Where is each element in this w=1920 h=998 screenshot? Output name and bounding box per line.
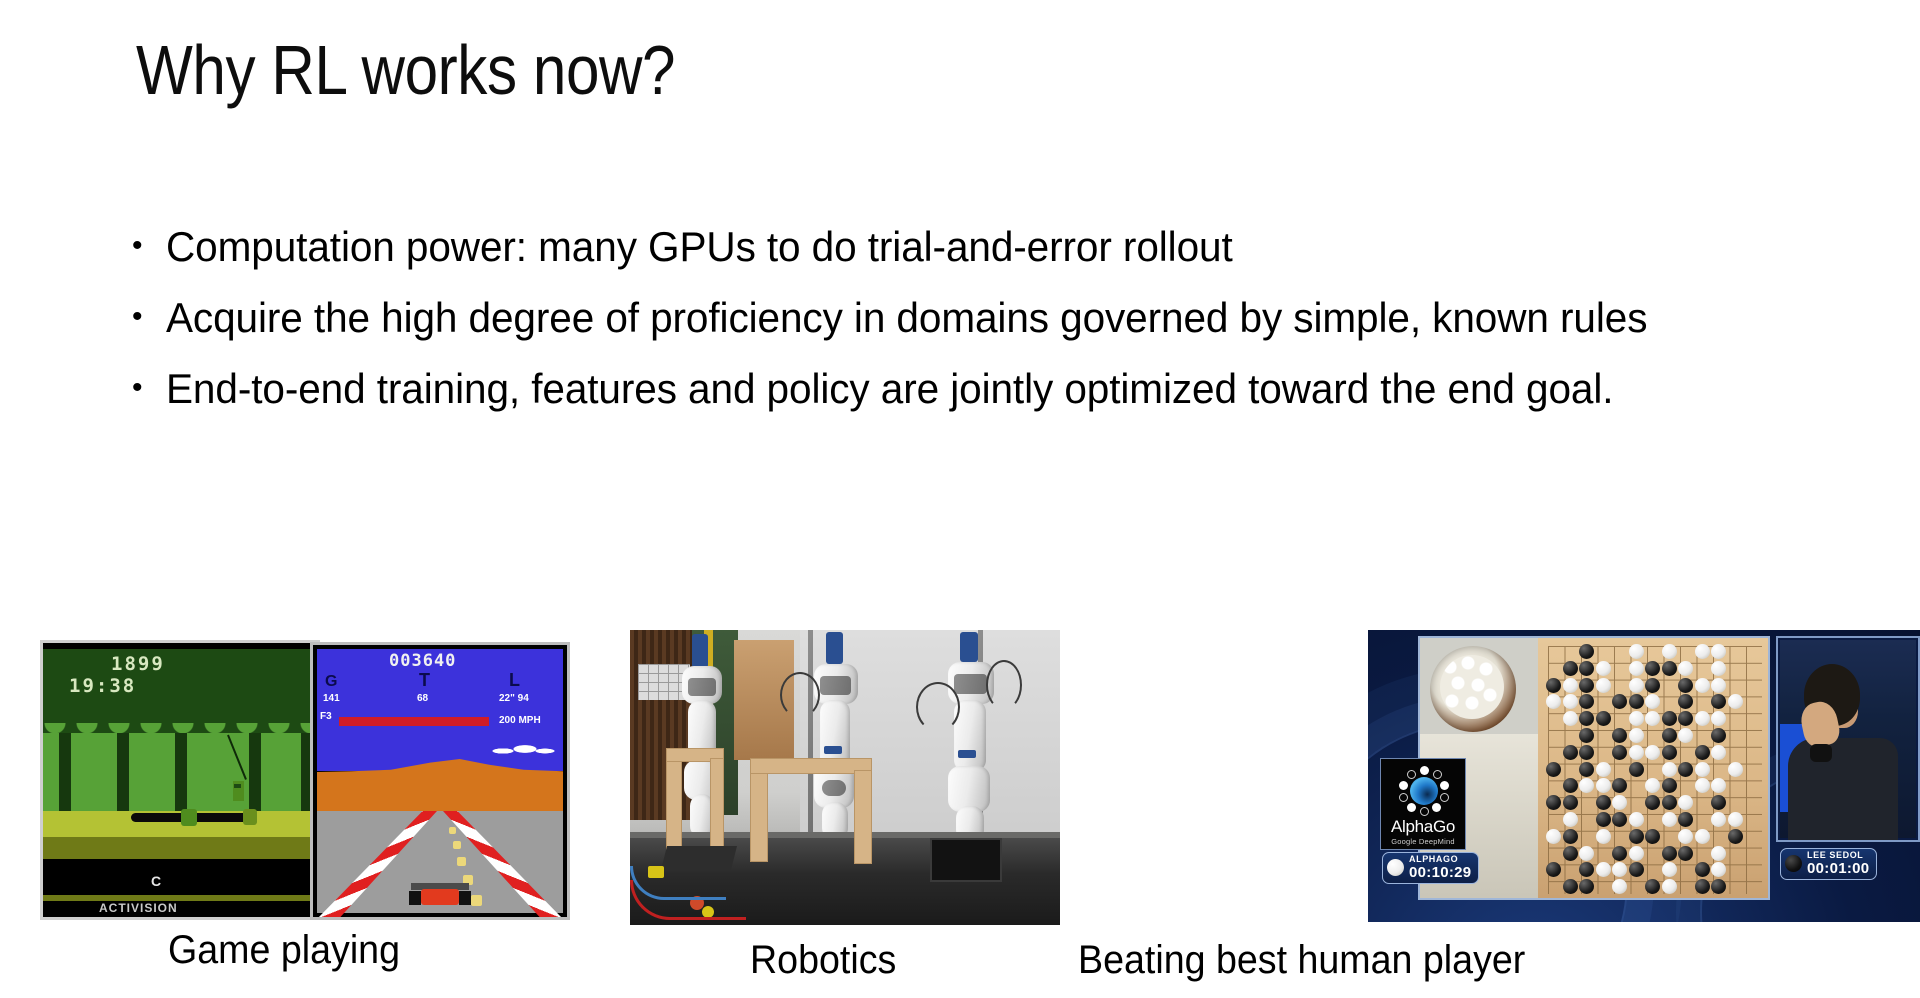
white-stone <box>1695 644 1710 659</box>
black-stone <box>1662 745 1677 760</box>
white-stone <box>1546 829 1561 844</box>
black-stone <box>1629 694 1644 709</box>
black-stone <box>1596 795 1611 810</box>
white-stone <box>1596 862 1611 877</box>
lee-sedol-clock: LEE SEDOL 00:01:00 <box>1780 848 1877 880</box>
robot-cable <box>780 672 820 718</box>
lee-sedol-player-name: LEE SEDOL <box>1807 851 1869 860</box>
robot-cable <box>986 660 1022 710</box>
black-stone-icon <box>1785 855 1802 872</box>
white-stone <box>1678 728 1693 743</box>
bullet-point-icon: • <box>128 364 166 412</box>
white-stone <box>1711 812 1726 827</box>
black-stone <box>1645 678 1660 693</box>
white-stone <box>1563 694 1578 709</box>
white-stone <box>1678 829 1693 844</box>
caption-robotics: Robotics <box>750 940 896 980</box>
monitor <box>930 838 1002 882</box>
black-stone <box>1563 795 1578 810</box>
racing-gear-label: G <box>325 673 337 691</box>
figure-row: 1899 19:38 C ACTIVISION 003640 G 141 F3 … <box>0 630 1920 998</box>
racing-progress-bar <box>339 717 489 726</box>
black-stone <box>1546 762 1561 777</box>
black-stone <box>1612 745 1627 760</box>
white-stone <box>1695 678 1710 693</box>
white-stone <box>1695 711 1710 726</box>
robotics-photo <box>630 630 1060 925</box>
white-stone <box>1662 812 1677 827</box>
pitfall-score: 1899 <box>111 653 165 675</box>
black-stone <box>1579 762 1594 777</box>
alphago-logo-ring <box>1399 766 1449 816</box>
white-stone <box>1596 678 1611 693</box>
black-stone <box>1612 812 1627 827</box>
white-stone-icon <box>1387 859 1404 876</box>
white-stone <box>1711 678 1726 693</box>
alphago-logo: AlphaGo Google DeepMind <box>1380 758 1466 850</box>
black-stone <box>1728 829 1743 844</box>
black-stone <box>1579 728 1594 743</box>
atari-pitfall-screenshot: 1899 19:38 C ACTIVISION <box>40 640 320 920</box>
white-stone <box>1695 829 1710 844</box>
black-stone <box>1629 862 1644 877</box>
white-stone <box>1662 644 1677 659</box>
white-stone <box>1563 711 1578 726</box>
white-stone <box>1695 762 1710 777</box>
list-item: • Computation power: many GPUs to do tri… <box>128 222 1868 273</box>
white-stone <box>1662 862 1677 877</box>
racing-clouds <box>489 737 559 755</box>
activision-logo: ACTIVISION <box>99 901 178 915</box>
racing-tach-label: T <box>419 670 430 691</box>
black-stone <box>1662 795 1677 810</box>
black-stone <box>1563 661 1578 676</box>
bullet-list: • Computation power: many GPUs to do tri… <box>128 222 1868 434</box>
white-stone <box>1629 661 1644 676</box>
black-stone <box>1563 846 1578 861</box>
bullet-text: Computation power: many GPUs to do trial… <box>166 222 1808 273</box>
bullet-text: End-to-end training, features and policy… <box>166 364 1808 415</box>
alphago-time-remaining: 00:10:29 <box>1409 865 1471 880</box>
player-watch <box>1810 744 1832 762</box>
pitfall-underground-stripe <box>43 895 317 901</box>
white-stone <box>1563 678 1578 693</box>
black-stone <box>1678 762 1693 777</box>
go-stone-bowl <box>1430 646 1516 732</box>
robot-cable <box>916 682 960 732</box>
list-item: • End-to-end training, features and poli… <box>128 364 1868 415</box>
white-stone <box>1596 661 1611 676</box>
pitfall-timer: 19:38 <box>69 675 136 697</box>
alphago-logo-subtitle: Google DeepMind <box>1381 837 1465 846</box>
black-stone <box>1563 745 1578 760</box>
racing-time-label: L <box>509 670 520 691</box>
white-stone <box>1662 879 1677 894</box>
atari-racing-screenshot: 003640 G 141 F3 T 68 L 22" 94 200 MPH <box>310 642 570 920</box>
racing-speed-readout: 200 MPH <box>499 715 541 726</box>
bullet-text: Acquire the high degree of proficiency i… <box>166 293 1808 344</box>
black-stone <box>1579 745 1594 760</box>
racing-gear-value: 141 <box>323 693 340 704</box>
black-stone <box>1563 829 1578 844</box>
bullet-point-icon: • <box>128 222 166 270</box>
black-stone <box>1711 728 1726 743</box>
black-stone <box>1629 829 1644 844</box>
black-stone <box>1579 644 1594 659</box>
wooden-fixture <box>750 770 768 862</box>
black-stone <box>1678 846 1693 861</box>
wooden-fixture <box>666 758 682 852</box>
list-item: • Acquire the high degree of proficiency… <box>128 293 1868 344</box>
white-stone <box>1728 762 1743 777</box>
black-stone <box>1662 711 1677 726</box>
white-stone <box>1711 745 1726 760</box>
white-stone <box>1728 812 1743 827</box>
white-stone <box>1678 661 1693 676</box>
white-stone <box>1596 762 1611 777</box>
black-stone <box>1563 879 1578 894</box>
wooden-fixture <box>854 770 872 864</box>
bullet-point-icon: • <box>128 293 166 341</box>
black-stone <box>1596 711 1611 726</box>
black-stone <box>1546 678 1561 693</box>
racing-score: 003640 <box>389 651 456 671</box>
go-board <box>1538 638 1770 900</box>
go-stones-in-bowl <box>1440 655 1504 719</box>
racing-time-value: 22" 94 <box>499 693 529 704</box>
black-stone <box>1579 661 1594 676</box>
wooden-fixture <box>710 758 724 850</box>
alphago-clock: ALPHAGO 00:10:29 <box>1382 852 1479 884</box>
black-stone <box>1695 745 1710 760</box>
black-stone <box>1662 846 1677 861</box>
white-stone <box>1563 812 1578 827</box>
black-stone <box>1596 812 1611 827</box>
white-stone <box>1629 644 1644 659</box>
white-stone <box>1629 745 1644 760</box>
black-stone <box>1662 661 1677 676</box>
white-stone <box>1662 762 1677 777</box>
black-stone <box>1579 678 1594 693</box>
black-stone <box>1678 678 1693 693</box>
black-stone <box>1695 879 1710 894</box>
caption-alphago: Beating best human player <box>1078 940 1525 980</box>
black-stone <box>1662 778 1677 793</box>
alphago-player-name: ALPHAGO <box>1409 855 1471 864</box>
player-camera-feed <box>1776 636 1920 842</box>
pitfall-log-obstacle <box>243 809 257 825</box>
white-stone <box>1711 846 1726 861</box>
alphago-broadcast-photo: ALPHAGO 00:10:29 LEE SEDOL 00:01:00 <box>1368 630 1920 922</box>
black-stone <box>1645 829 1660 844</box>
pitfall-ground-shadow <box>43 837 317 859</box>
black-stone <box>1612 846 1627 861</box>
alphago-logo-wordmark: AlphaGo <box>1381 817 1465 837</box>
white-stone <box>1711 644 1726 659</box>
white-stone <box>1711 661 1726 676</box>
white-stone <box>1645 745 1660 760</box>
white-stone <box>1579 846 1594 861</box>
alphago-logo-swirl-icon <box>1410 777 1438 805</box>
white-stone <box>1629 728 1644 743</box>
racing-player-car <box>409 883 471 909</box>
pitfall-lives-counter: C <box>151 873 161 889</box>
black-stone <box>1695 862 1710 877</box>
white-stone <box>1629 678 1644 693</box>
white-stone <box>1629 711 1644 726</box>
pitfall-underground <box>43 859 317 919</box>
white-stone <box>1596 778 1611 793</box>
racing-lap-label: F3 <box>320 711 332 722</box>
player-body <box>1788 738 1898 842</box>
racing-desert <box>317 785 563 811</box>
white-stone <box>1695 778 1710 793</box>
camera-image <box>1780 640 1916 838</box>
lee-sedol-time-remaining: 00:01:00 <box>1807 861 1869 876</box>
black-stone <box>1629 762 1644 777</box>
caption-game-playing: Game playing <box>168 930 400 970</box>
white-stone <box>1629 812 1644 827</box>
pitfall-forest <box>43 733 317 811</box>
black-stone <box>1612 728 1627 743</box>
pitfall-player-sprite <box>233 781 244 801</box>
white-stone <box>1596 829 1611 844</box>
black-stone <box>1662 728 1677 743</box>
white-stone <box>1728 694 1743 709</box>
racing-tach-value: 68 <box>417 693 428 704</box>
white-stone <box>1629 846 1644 861</box>
black-stone <box>1678 812 1693 827</box>
pitfall-log-obstacle <box>181 809 197 826</box>
black-stone <box>1645 661 1660 676</box>
black-stone <box>1563 778 1578 793</box>
page-title: Why RL works now? <box>136 34 675 108</box>
